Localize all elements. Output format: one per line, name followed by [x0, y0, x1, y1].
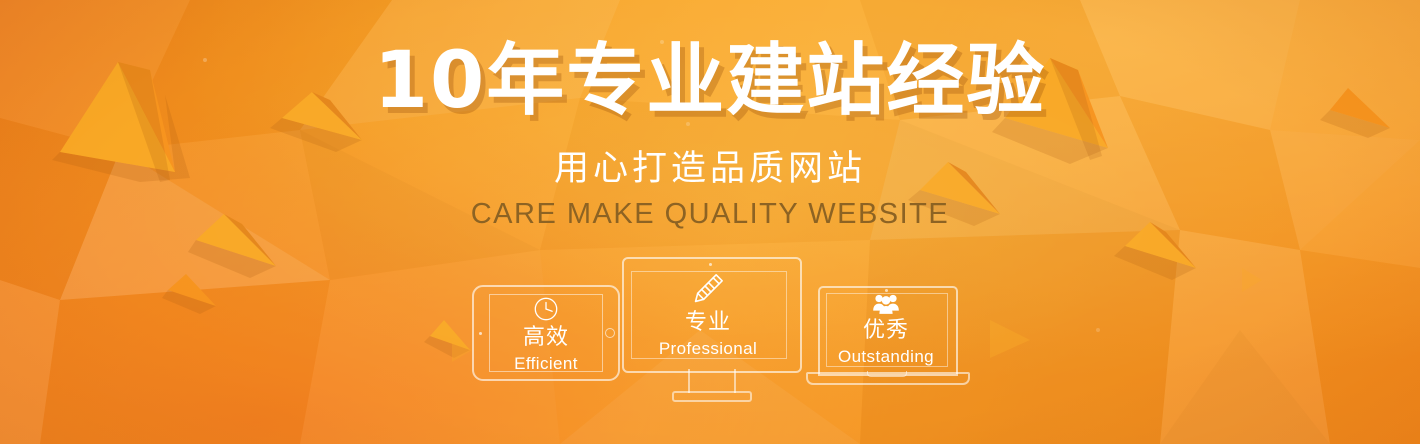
laptop-camera-dot	[885, 289, 888, 292]
banner-content: 10年专业建站经验 用心打造品质网站 CARE MAKE QUALITY WEB…	[0, 0, 1420, 444]
monitor-label-cn: 专业	[685, 312, 731, 334]
device-tablet: 高效 Efficient	[472, 285, 620, 381]
headline: 10年专业建站经验	[0, 42, 1420, 120]
tablet-home-button	[605, 328, 615, 338]
device-laptop: 优秀 Outstanding	[806, 286, 966, 392]
subtitle-english: CARE MAKE QUALITY WEBSITE	[0, 200, 1420, 229]
monitor-label-en: Professional	[659, 340, 757, 357]
laptop-label-en: Outstanding	[838, 348, 934, 365]
promo-banner: .l1{fill:#ffffff;fill-opacity:0.055} .l2…	[0, 0, 1420, 444]
pencil-icon	[687, 271, 729, 307]
monitor-stand-base	[672, 391, 752, 402]
monitor-camera-dot	[709, 263, 712, 266]
monitor-stand-neck	[688, 369, 736, 393]
subtitle-chinese: 用心打造品质网站	[0, 152, 1420, 187]
tablet-camera-dot	[479, 332, 482, 335]
laptop-label-cn: 优秀	[863, 320, 909, 342]
tablet-label-en: Efficient	[514, 355, 578, 372]
laptop-trackpad	[867, 371, 907, 377]
people-group-icon	[868, 293, 904, 315]
device-monitor: 专业 Professional	[622, 257, 798, 407]
clock-icon	[529, 296, 563, 322]
device-group: 高效 Efficient	[0, 248, 1420, 408]
tablet-label-cn: 高效	[523, 327, 569, 349]
